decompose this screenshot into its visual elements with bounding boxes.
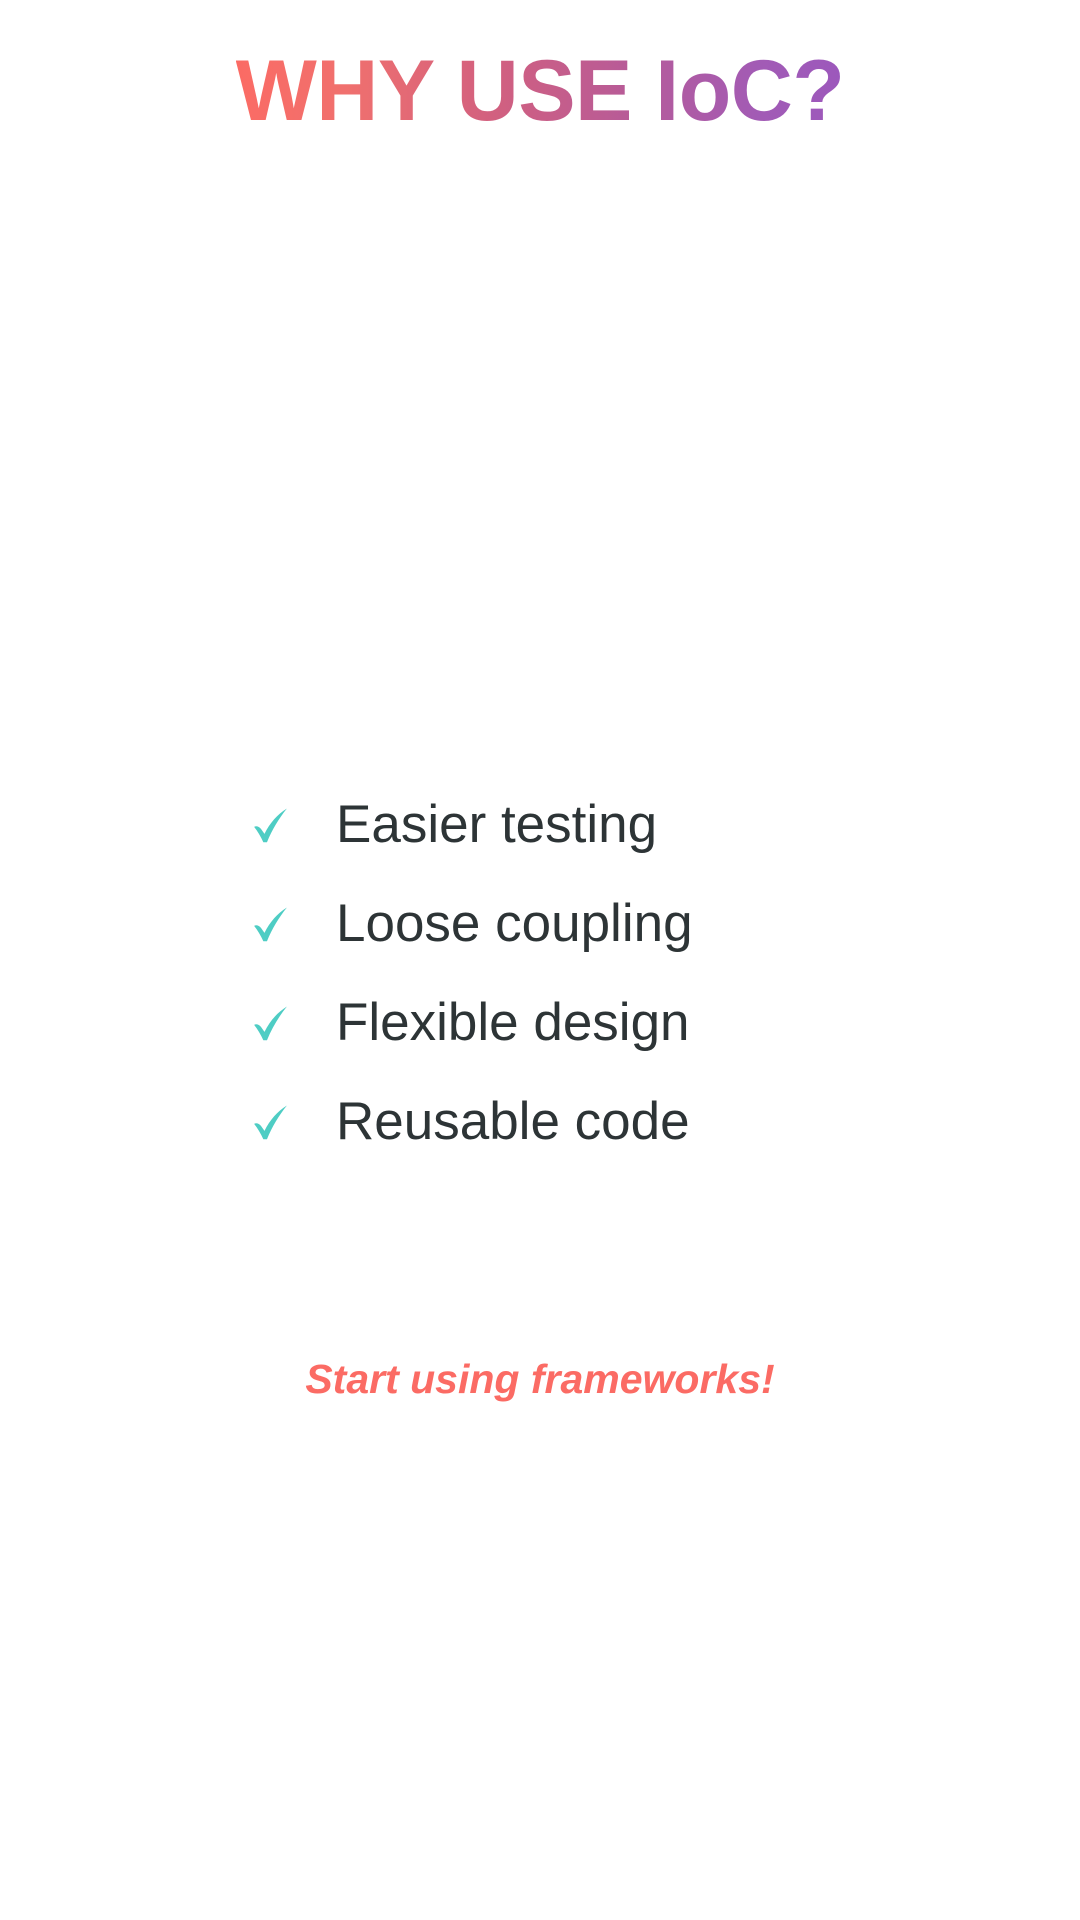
cta-container: Start using frameworks! <box>0 1355 1080 1404</box>
cta-text: Start using frameworks! <box>305 1355 774 1404</box>
check-icon <box>248 1000 304 1046</box>
page-title-container: WHY USE IoC? <box>0 42 1080 141</box>
list-item: Reusable code <box>248 1072 848 1171</box>
check-icon <box>248 901 304 947</box>
slide-root: WHY USE IoC? Easier testing Loose coupli… <box>0 0 1080 1920</box>
check-icon <box>248 802 304 848</box>
list-item-label: Flexible design <box>336 996 690 1049</box>
list-item: Easier testing <box>248 775 848 874</box>
benefits-list: Easier testing Loose coupling Flexible d… <box>248 775 848 1171</box>
list-item-label: Reusable code <box>336 1095 690 1148</box>
list-item-label: Loose coupling <box>336 897 693 950</box>
list-item: Loose coupling <box>248 874 848 973</box>
list-item: Flexible design <box>248 973 848 1072</box>
page-title: WHY USE IoC? <box>236 42 845 141</box>
list-item-label: Easier testing <box>336 798 657 851</box>
check-icon <box>248 1099 304 1145</box>
